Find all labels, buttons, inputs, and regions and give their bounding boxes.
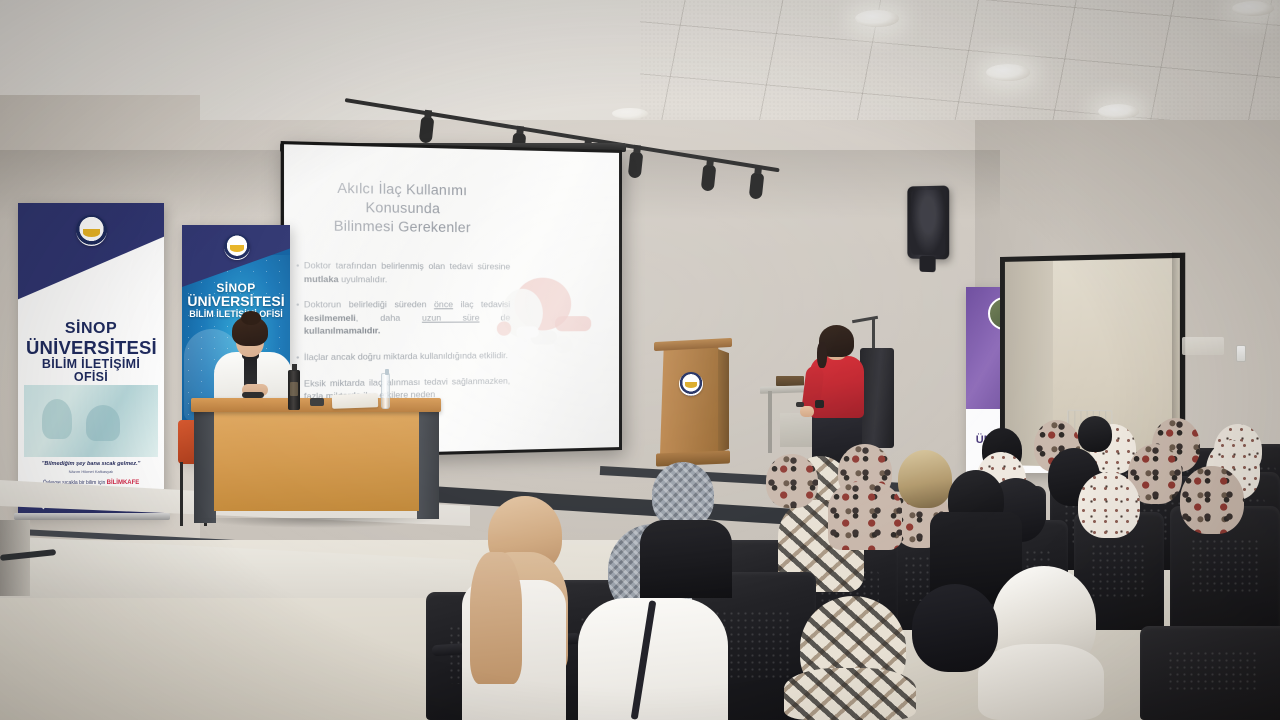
- downlight-5: [612, 108, 648, 119]
- banner-left-tagline-brand: BİLİMKAFE: [107, 480, 140, 486]
- banner-middle-title-line3: BİLİM İLETİŞİMİ OFİSİ: [186, 310, 286, 319]
- desk-papers: [332, 393, 378, 409]
- presenter-hair-side: [817, 342, 827, 368]
- desk-front-panel: [214, 411, 419, 511]
- downlight-2: [986, 64, 1030, 81]
- audience-head-row3-3: [1078, 472, 1140, 538]
- slide-title-line-3: Bilinmesi Gerekenler: [308, 216, 494, 237]
- audience-body-front-knit: [640, 520, 732, 598]
- audience-head-blonde: [898, 450, 952, 508]
- banner-left-quote: "Bilmediğim şey bana sıcak gelmez." Nâzı…: [26, 461, 156, 474]
- seat-perforation: [1190, 538, 1258, 595]
- downlight-4: [1232, 1, 1274, 16]
- presentation-remote[interactable]: [796, 402, 804, 407]
- podium-university-emblem-icon: [679, 372, 703, 396]
- audience-head-back-dark: [1078, 416, 1112, 452]
- banner-middle-title: SİNOP ÜNİVERSİTESİ BİLİM İLETİŞİMİ OFİSİ: [186, 282, 286, 319]
- banner-left-stand: [14, 513, 170, 520]
- wall-plate: [1182, 337, 1224, 355]
- desk-small-object: [310, 398, 324, 406]
- medicine-illustration: [469, 257, 601, 380]
- podium-side: [718, 349, 729, 453]
- moderator-hair-bun: [241, 311, 261, 325]
- desk-left-panel: [194, 411, 216, 523]
- seat-perforation: [1090, 543, 1146, 597]
- slide-title: Akılcı İlaç Kullanımı Konusunda Bilinmes…: [308, 179, 494, 237]
- audience-scarf-foreground-keffiyeh: [784, 668, 916, 720]
- banner-left-quote-source: Nâzım Hikmet Kafkasyalı: [26, 469, 156, 474]
- presenter-desk: [196, 398, 436, 526]
- stage-chair-leg-1: [180, 462, 183, 526]
- banner-left-title-line2: ÜNİVERSİTESİ: [26, 338, 156, 357]
- sinop-university-emblem-icon: [224, 234, 250, 260]
- desk-right-panel: [417, 411, 439, 519]
- podium-body: [660, 347, 722, 455]
- presenter-hand: [800, 406, 814, 417]
- audience-head-front-knit: [652, 462, 714, 528]
- podium: [658, 340, 728, 470]
- presenter-wristwatch: [815, 400, 824, 408]
- banner-middle-title-line2: ÜNİVERSİTESİ: [186, 294, 286, 309]
- desk-microphone: [242, 392, 264, 398]
- audience-scarf-foreground-white: [978, 644, 1104, 720]
- downlight-3: [1098, 104, 1139, 119]
- audience-head-foreground-dark: [912, 584, 998, 672]
- banner-left-title-line3: BİLİM İLETİŞİMİ OFİSİ: [26, 358, 156, 384]
- side-table-leg-1: [768, 391, 772, 453]
- seat-foreground-right[interactable]: [1140, 626, 1280, 720]
- banner-left-quote-text: "Bilmediğim şey bana sıcak gelmez.": [42, 461, 141, 467]
- banner-left-title: SİNOP ÜNİVERSİTESİ BİLİM İLETİŞİMİ OFİSİ: [26, 321, 156, 384]
- sinop-university-emblem-icon: [76, 215, 107, 246]
- audience-scarf-front-beige-overlay: [470, 552, 522, 684]
- banner-left-photo: [24, 385, 158, 457]
- audience-head-front-right: [766, 454, 818, 508]
- wall-speaker-icon: [907, 185, 949, 259]
- slide-title-line-2: Konusunda: [308, 197, 494, 218]
- light-switch[interactable]: [1236, 345, 1246, 362]
- desk-shadow: [196, 518, 440, 528]
- water-bottle: [381, 373, 390, 409]
- seat-perforation: [1167, 650, 1260, 693]
- seat-backrest: [1140, 626, 1280, 720]
- audience-scarf-row2-2: [828, 482, 902, 550]
- audience-head-row3-4: [1180, 466, 1244, 534]
- dark-bottle: [288, 370, 300, 410]
- banner-left-title-line1: SİNOP: [26, 321, 156, 338]
- speaker-grill: [911, 190, 945, 256]
- downlight-1: [855, 10, 899, 27]
- banner-left: SİNOP ÜNİVERSİTESİ BİLİM İLETİŞİMİ OFİSİ…: [18, 203, 164, 515]
- auditorium-scene: Akılcı İlaç Kullanımı Konusunda Bilinmes…: [0, 0, 1280, 720]
